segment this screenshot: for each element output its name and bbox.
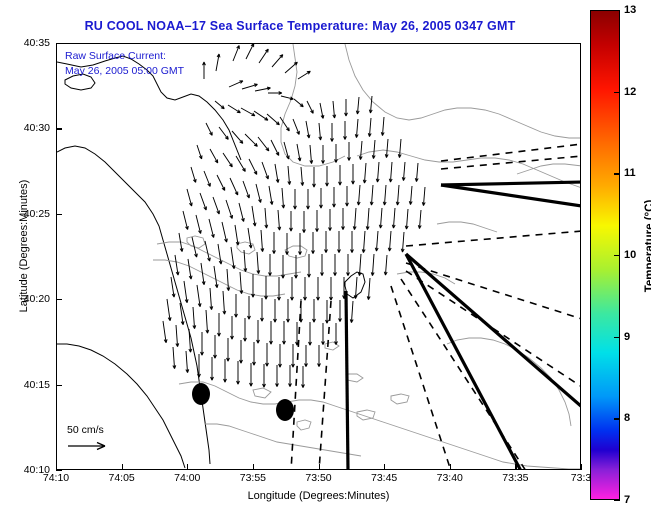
colorbar-tick-label: 9 [624,331,630,343]
y-axis-tick-mark [56,128,62,129]
colorbar-tick-mark [614,255,620,256]
current-vector-arrow [320,103,324,119]
current-vector-arrow [379,208,382,228]
y-axis-label: Latitude (Degrees:Minutes) [18,136,30,356]
y-axis-tick-label: 40:10 [2,464,50,476]
x-axis-tick-label: 73:40 [437,472,463,484]
coastline-paths [57,56,365,468]
current-vector-arrow [342,208,345,230]
colorbar-tick-label: 12 [624,86,636,98]
colorbar-tick-label: 8 [624,412,630,424]
current-vector-arrow [248,296,251,319]
x-axis-tick-label: 73:35 [502,472,528,484]
radar-station-marker[interactable] [276,399,294,421]
current-vector-arrow [345,99,348,116]
radar-beam-line [441,182,581,185]
annotation-line-2: May 26, 2005 05:00 GMT [65,64,184,79]
current-vector-arrow [384,255,387,275]
current-vector-arrow [229,81,243,87]
current-vector-arrow [167,299,171,321]
current-vector-arrow [256,184,261,203]
colorbar-tick-mark [614,92,620,93]
current-vector-arrow [351,231,354,253]
current-vector-arrow [335,144,338,163]
current-vector-arrow [362,231,365,253]
current-vector-arrow [196,215,201,234]
current-vector-arrow [252,206,256,226]
x-axis-tick-mark [581,464,582,470]
current-vector-arrow [233,46,239,62]
map-canvas [57,44,581,470]
current-vector-arrow [257,320,260,343]
current-vector-arrow [253,342,256,365]
current-vector-arrow [272,55,283,67]
current-vector-arrow [348,142,351,161]
sst-current-map-figure: RU COOL NOAA–17 Sea Surface Temperature:… [0,0,651,515]
current-vector-arrow [309,322,312,345]
current-vector-arrow [240,340,243,363]
current-vector-arrow [187,189,192,206]
current-vector-arrow [297,144,301,161]
colorbar-tick-label: 7 [624,494,630,506]
current-vector-arrow [250,363,253,386]
radar-beam-line [441,185,581,206]
current-vector-arrow [333,101,336,118]
current-vector-arrow [223,153,232,167]
current-vector-arrow [283,321,286,344]
current-vector-arrow [204,171,210,187]
current-vector-arrow [240,272,243,294]
x-axis-tick-label: 73:50 [305,472,331,484]
current-vector-arrow [335,323,338,345]
current-vector-arrow [263,364,266,387]
current-vector-arrow [338,231,341,253]
current-vector-arrow [248,228,252,248]
x-axis-tick-mark [122,464,123,470]
y-axis-tick-label: 40:30 [2,122,50,134]
current-vector-arrow [231,316,234,339]
map-plot-area[interactable]: Raw Surface Current: May 26, 2005 05:00 … [56,43,581,470]
current-vector-arrow [306,121,310,138]
current-vector-arrow [358,254,361,276]
x-axis-tick-label: 73:3 [571,472,591,484]
current-vector-arrow [271,140,279,156]
current-vector-arrow [295,255,298,278]
radar-beam-line [406,254,581,407]
current-vector-arrow [235,294,238,317]
current-vector-arrow [363,163,366,183]
current-vector-arrow [235,225,239,245]
current-vector-field [163,44,425,388]
current-vector-arrow [193,307,196,329]
y-axis-tick-mark [56,214,62,215]
radar-beam-line [406,271,581,387]
current-vector-arrow [282,188,285,208]
current-vector-arrow [347,254,350,276]
current-vector-arrow [273,232,276,254]
current-vector-arrow [184,281,188,303]
current-vector-arrow [402,162,405,181]
current-vector-arrow [383,185,386,205]
current-vector-arrow [318,345,321,367]
current-vector-arrow [326,300,329,323]
current-vector-arrow [307,189,310,209]
x-axis-tick-mark [384,464,385,470]
bathymetry-contours [153,44,581,469]
current-vector-arrow [359,141,362,160]
radar-beam-line [406,231,581,246]
x-axis-tick-label: 73:45 [371,472,397,484]
current-vector-arrow [173,347,176,369]
current-vector-arrow [325,231,328,253]
current-vector-arrow [197,145,202,159]
current-vector-arrow [392,208,395,228]
y-axis-tick-mark [56,299,62,300]
current-vector-arrow [302,366,305,388]
current-vector-arrow [209,219,214,238]
colorbar-tick-mark [614,10,620,11]
colorbar-tick-label: 11 [624,167,636,179]
current-vector-arrow [210,149,218,163]
y-axis-tick-mark [56,470,62,471]
current-vector-arrow [270,321,273,344]
current-vector-arrow [389,162,392,182]
colorbar-tick-mark [614,173,620,174]
current-vector-arrow [307,101,313,113]
current-vector-arrow [258,137,269,151]
x-axis-label: Longitude (Degrees:Minutes) [56,490,581,502]
current-vector-arrow [268,92,282,95]
x-axis-tick-label: 74:00 [174,472,200,484]
current-vector-arrow [289,365,292,387]
radar-beam-lines [291,144,581,470]
current-vector-arrow [312,232,315,254]
current-vector-arrow [331,123,334,142]
current-vector-arrow [163,321,167,343]
current-vector-arrow [249,159,257,175]
colorbar-tick-mark [614,337,620,338]
current-vector-arrow [339,300,342,322]
current-vector-arrow [396,185,399,205]
current-vector-arrow [188,259,192,279]
current-vector-arrow [216,54,220,71]
current-vector-arrow [266,343,269,366]
current-vector-arrow [385,139,388,158]
current-vector-arrow [276,365,279,387]
radar-beam-line [291,301,301,470]
current-vector-arrow [267,114,279,125]
velocity-scale-legend: 50 cm/s [67,424,113,457]
y-axis-tick-mark [56,385,62,386]
radar-station-markers [192,383,294,421]
current-vector-arrow [370,185,373,205]
current-vector-arrow [376,162,379,182]
current-vector-arrow [308,254,311,277]
colorbar-tick-mark [614,500,620,501]
current-vector-arrow [244,318,247,341]
current-vector-arrow [356,97,359,114]
current-vector-arrow [287,299,290,322]
current-vector-arrow [388,231,391,251]
current-vector-arrow [175,255,179,275]
current-vector-arrow [350,301,353,323]
current-vector-arrow [381,117,384,136]
current-vector-arrow [285,62,297,73]
x-axis-tick-mark [450,464,451,470]
current-vector-arrow [242,84,258,89]
radar-beam-line [391,286,451,470]
current-vector-arrow [222,222,227,242]
current-vector-arrow [274,299,277,322]
current-vector-arrow [333,187,336,207]
x-axis-tick-label: 74:05 [108,472,134,484]
right-arrow-icon [67,439,113,457]
x-axis-tick-mark [319,464,320,470]
current-vector-arrow [269,254,272,276]
current-vector-arrow [227,269,230,291]
current-vector-arrow [322,323,325,345]
current-vector-arrow [401,232,404,252]
current-vector-arrow [313,299,316,322]
current-vector-arrow [299,233,302,255]
current-vector-arrow [292,344,295,367]
current-vector-arrow [317,277,320,300]
radar-station-marker[interactable] [192,383,210,405]
current-vector-arrow [201,332,204,355]
y-axis-tick-label: 40:35 [2,37,50,49]
current-vector-arrow [205,241,210,261]
current-vector-arrow [375,231,378,251]
current-vector-arrow [252,274,255,297]
current-vector-arrow [301,167,304,186]
y-axis-tick-mark [56,43,62,44]
current-vector-arrow [344,121,347,140]
colorbar-label: Temperature (°C) [644,156,651,336]
figure-title: RU COOL NOAA–17 Sea Surface Temperature:… [0,19,600,33]
current-vector-arrow [286,233,289,255]
current-vector-arrow [213,197,219,214]
current-vector-arrow [243,181,249,198]
current-vector-arrow [367,278,370,300]
current-vector-arrow [262,162,268,179]
current-vector-arrow [183,211,188,230]
current-vector-arrow [230,178,238,195]
current-vector-arrow [321,254,324,276]
current-vector-arrow [275,164,279,183]
current-vector-arrow [269,186,273,205]
current-vector-arrow [200,193,206,210]
current-vector-arrow [255,87,271,91]
current-vector-arrow [291,277,294,300]
current-vector-arrow [352,164,355,184]
current-vector-arrow [294,99,303,107]
current-vector-arrow [206,123,212,135]
current-vector-arrow [227,338,230,361]
current-vector-arrow [203,62,206,79]
current-vector-arrow [304,277,307,300]
current-vector-arrow [355,119,358,138]
current-vector-arrow [329,209,332,231]
current-vector-arrow [405,209,408,229]
current-vector-arrow [288,166,291,185]
current-vector-arrow [305,345,308,367]
current-vector-arrow [278,277,281,300]
radar-beam-line [406,263,581,319]
current-vector-arrow [261,298,264,321]
current-vector-arrow [298,71,310,79]
current-vector-arrow [293,119,299,135]
current-vector-arrow [357,185,360,205]
x-axis-tick-label: 73:55 [240,472,266,484]
current-vector-arrow [186,351,189,373]
annotation-line-1: Raw Surface Current: [65,49,184,64]
current-vector-arrow [422,187,425,206]
current-vector-arrow [313,167,316,187]
current-vector-arrow [284,142,289,159]
current-vector-arrow [409,186,412,205]
x-axis-tick-mark [253,464,254,470]
current-vector-arrow [191,167,196,183]
current-vector-arrow [330,277,333,300]
current-vector-arrow [368,118,371,137]
current-vector-arrow [176,325,179,347]
current-vector-arrow [241,108,255,116]
current-vector-arrow [223,291,226,314]
current-vector-arrow [303,211,306,233]
current-vector-arrow [353,208,356,230]
current-vector-arrow [226,200,233,219]
current-vector-arrow [371,254,374,276]
current-vector-arrow [398,139,401,158]
current-vector-arrow [228,105,240,113]
current-vector-arrow [320,188,323,208]
current-vector-arrow [245,134,257,146]
current-vector-arrow [214,266,218,288]
current-vector-arrow [206,310,209,333]
current-vector-arrow [415,163,418,182]
x-axis-tick-mark [515,464,516,470]
current-vector-arrow [326,166,329,186]
current-vector-arrow [418,210,421,229]
current-vector-arrow [261,230,264,252]
current-vector-arrow [322,145,325,164]
current-vector-arrow [279,344,282,367]
radar-beam-line [346,291,348,470]
colorbar-tick-label: 13 [624,4,636,16]
current-vector-arrow [346,186,349,206]
x-axis-tick-mark [187,464,188,470]
current-vector-arrow [259,49,268,63]
current-vector-arrow [210,288,213,310]
current-vector-arrow [224,359,227,382]
current-vector-arrow [237,361,240,384]
current-vector-arrow [218,313,221,336]
current-vector-arrow [219,127,228,139]
current-vector-arrow [214,335,217,358]
current-vector-arrow [354,277,357,299]
current-vector-arrow [257,252,260,274]
current-vector-arrow [217,175,225,191]
current-vector-arrow [218,244,222,264]
current-vector-arrow [278,210,281,230]
current-annotation: Raw Surface Current: May 26, 2005 05:00 … [65,49,184,79]
current-vector-arrow [239,203,244,222]
current-vector-arrow [254,111,268,120]
y-axis-tick-label: 40:15 [2,379,50,391]
current-vector-arrow [197,285,201,307]
current-vector-arrow [366,208,369,230]
current-vector-arrow [215,101,224,109]
radar-beam-line [319,301,331,470]
radar-beam-line [441,156,581,169]
current-vector-arrow [294,189,297,209]
colorbar-tick-mark [614,418,620,419]
current-vector-arrow [372,140,375,159]
current-vector-arrow [265,208,268,228]
velocity-scale-label: 50 cm/s [67,424,113,436]
current-vector-arrow [334,254,337,276]
current-vector-arrow [310,145,313,164]
current-vector-arrow [316,210,319,232]
current-vector-arrow [339,165,342,185]
colorbar-tick-label: 10 [624,249,636,261]
current-vector-arrow [290,211,293,231]
current-vector-arrow [211,357,214,380]
current-vector-arrow [319,123,322,140]
current-vector-arrow [246,44,254,59]
